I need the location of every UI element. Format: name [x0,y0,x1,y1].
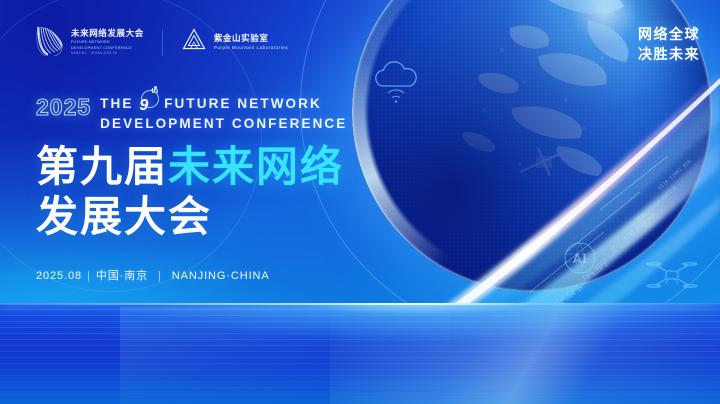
meta-sep-1: | [82,270,96,282]
horizon-glow [0,303,720,357]
ai-badge-label: AI [558,236,602,280]
logo-fndc[interactable]: 未来网络发展大会 FUTURE NETWORK DEVELOPMENT CONF… [34,24,144,61]
conference-poster: 10110 01001 1101 0011 10 0101 11010 0110… [0,0,720,404]
eyebrow-english: THE 9 th FUTURE NETWORK DEVELOPMENT CONF… [100,96,347,132]
logo-fndc-en1: FUTURE NETWORK [71,40,144,45]
slogan-line-1: 网络全球 [638,24,700,44]
meta-city-cn: 中国·南京 [96,270,148,282]
meta-sep-2: | [148,270,172,282]
logo-pml-cn: 紫金山实验室 [214,34,288,43]
horizon-line [0,303,720,305]
logo-pml-en: Purple Mountain Laboratories [214,45,288,51]
ai-badge-icon: AI [558,236,602,280]
ordinal-badge: 9 th [139,96,158,116]
drone-icon [646,258,698,292]
reflective-horizon-graphic [0,303,720,404]
logo-fndc-sub: NANJING · CHINA 2025.08 [71,51,144,55]
meta-city-en: NANJING·CHINA [172,270,270,282]
meta-line: 2025.08|中国·南京|NANJING·CHINA [36,267,347,283]
title-row-2: 发展大会 [36,192,347,242]
logo-divider [162,30,163,56]
slogan-line-2: 决胜未来 [638,44,700,64]
logo-fndc-cn: 未来网络发展大会 [71,29,144,38]
logo-pml[interactable]: 紫金山实验室 Purple Mountain Laboratories [181,27,288,58]
eyebrow-line-2: DEVELOPMENT CONFERENCE [100,116,347,132]
slogan-block: 网络全球 决胜未来 [638,24,700,65]
logo-fndc-en2: DEVELOPMENT CONFERENCE [71,46,144,51]
title-part-future-network: 未来网络 [168,142,344,191]
eyebrow-the: THE [100,96,133,111]
ordinal-suffix: th [151,88,158,97]
title-part-ninth: 第九届 [36,142,168,191]
title-chinese: 第九届未来网络 发展大会 [36,142,347,241]
title-row-1: 第九届未来网络 [36,142,347,192]
fan-emblem-icon [34,24,64,61]
logo-bar: 未来网络发展大会 FUTURE NETWORK DEVELOPMENT CONF… [34,24,288,61]
logo-fndc-text: 未来网络发展大会 FUTURE NETWORK DEVELOPMENT CONF… [71,29,144,55]
meta-date: 2025.08 [36,270,82,282]
year-label: 2025 [36,96,91,119]
eyebrow-future-network: FUTURE NETWORK [164,96,322,111]
headline-block: 2025 THE 9 th FUTURE NETWORK DEVELOPMENT… [36,96,347,283]
eyebrow-line-1: THE 9 th FUTURE NETWORK [100,96,347,116]
logo-pml-text: 紫金山实验室 Purple Mountain Laboratories [214,34,288,51]
eyebrow-row: 2025 THE 9 th FUTURE NETWORK DEVELOPMENT… [36,96,347,132]
purple-mountain-triangle-icon [181,27,207,58]
